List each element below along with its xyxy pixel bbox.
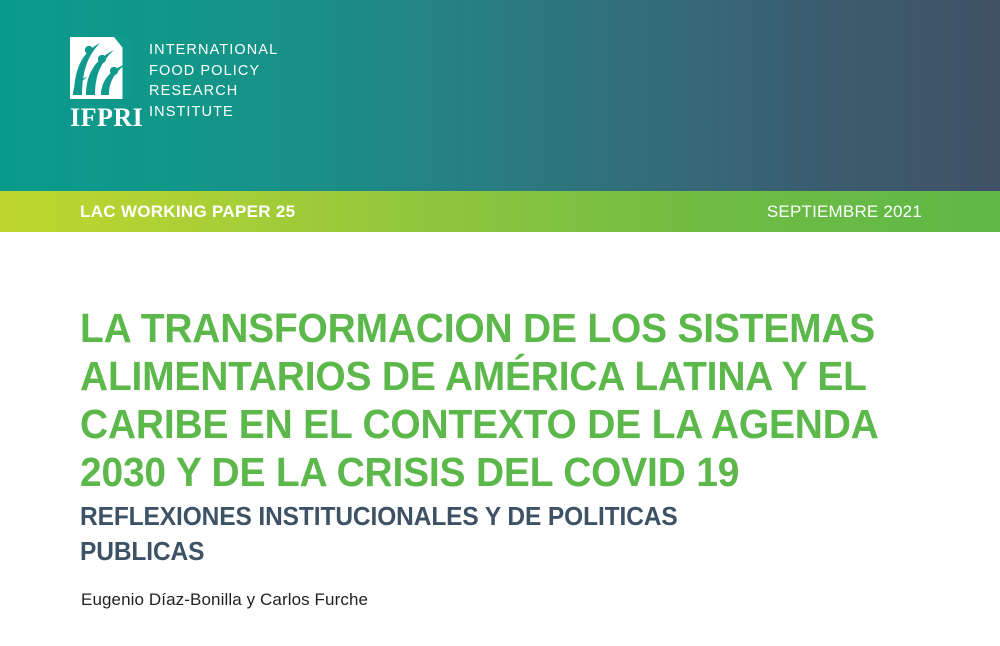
ifpri-logo-mark-wrap: IFPRI bbox=[70, 37, 132, 131]
document-cover-page: IFPRI INTERNATIONAL FOOD POLICY RESEARCH… bbox=[0, 0, 1000, 646]
ifpri-name-line-4: INSTITUTE bbox=[149, 102, 278, 123]
title-line-3: CARIBE EN EL CONTEXTO DE LA AGENDA bbox=[80, 400, 888, 448]
ifpri-name-line-1: INTERNATIONAL bbox=[149, 40, 278, 61]
ifpri-wordmark: IFPRI bbox=[70, 105, 143, 131]
ifpri-plant-people-icon bbox=[70, 37, 130, 99]
ifpri-full-name: INTERNATIONAL FOOD POLICY RESEARCH INSTI… bbox=[149, 40, 278, 122]
ifpri-logo-mark bbox=[70, 37, 130, 99]
ifpri-name-line-3: RESEARCH bbox=[149, 81, 278, 102]
page-title: LA TRANSFORMACION DE LOS SISTEMAS ALIMEN… bbox=[80, 304, 888, 496]
page-subtitle: REFLEXIONES INSTITUCIONALES Y DE POLITIC… bbox=[80, 500, 886, 570]
subtitle-line-2: PUBLICAS bbox=[80, 535, 886, 570]
publication-date-label: SEPTIEMBRE 2021 bbox=[767, 203, 922, 220]
working-paper-label: LAC WORKING PAPER 25 bbox=[80, 203, 295, 220]
cover-body: LA TRANSFORMACION DE LOS SISTEMAS ALIMEN… bbox=[0, 232, 1000, 646]
ifpri-logo: IFPRI INTERNATIONAL FOOD POLICY RESEARCH… bbox=[70, 37, 278, 131]
ifpri-name-line-2: FOOD POLICY bbox=[149, 61, 278, 82]
authors-line: Eugenio Díaz-Bonilla y Carlos Furche bbox=[81, 590, 368, 610]
accent-bar: LAC WORKING PAPER 25 SEPTIEMBRE 2021 bbox=[0, 191, 1000, 232]
title-line-4: 2030 Y DE LA CRISIS DEL COVID 19 bbox=[80, 448, 888, 496]
subtitle-line-1: REFLEXIONES INSTITUCIONALES Y DE POLITIC… bbox=[80, 500, 886, 535]
title-line-2: ALIMENTARIOS DE AMÉRICA LATINA Y EL bbox=[80, 352, 888, 400]
title-line-1: LA TRANSFORMACION DE LOS SISTEMAS bbox=[80, 304, 888, 352]
header-band: IFPRI INTERNATIONAL FOOD POLICY RESEARCH… bbox=[0, 0, 1000, 191]
